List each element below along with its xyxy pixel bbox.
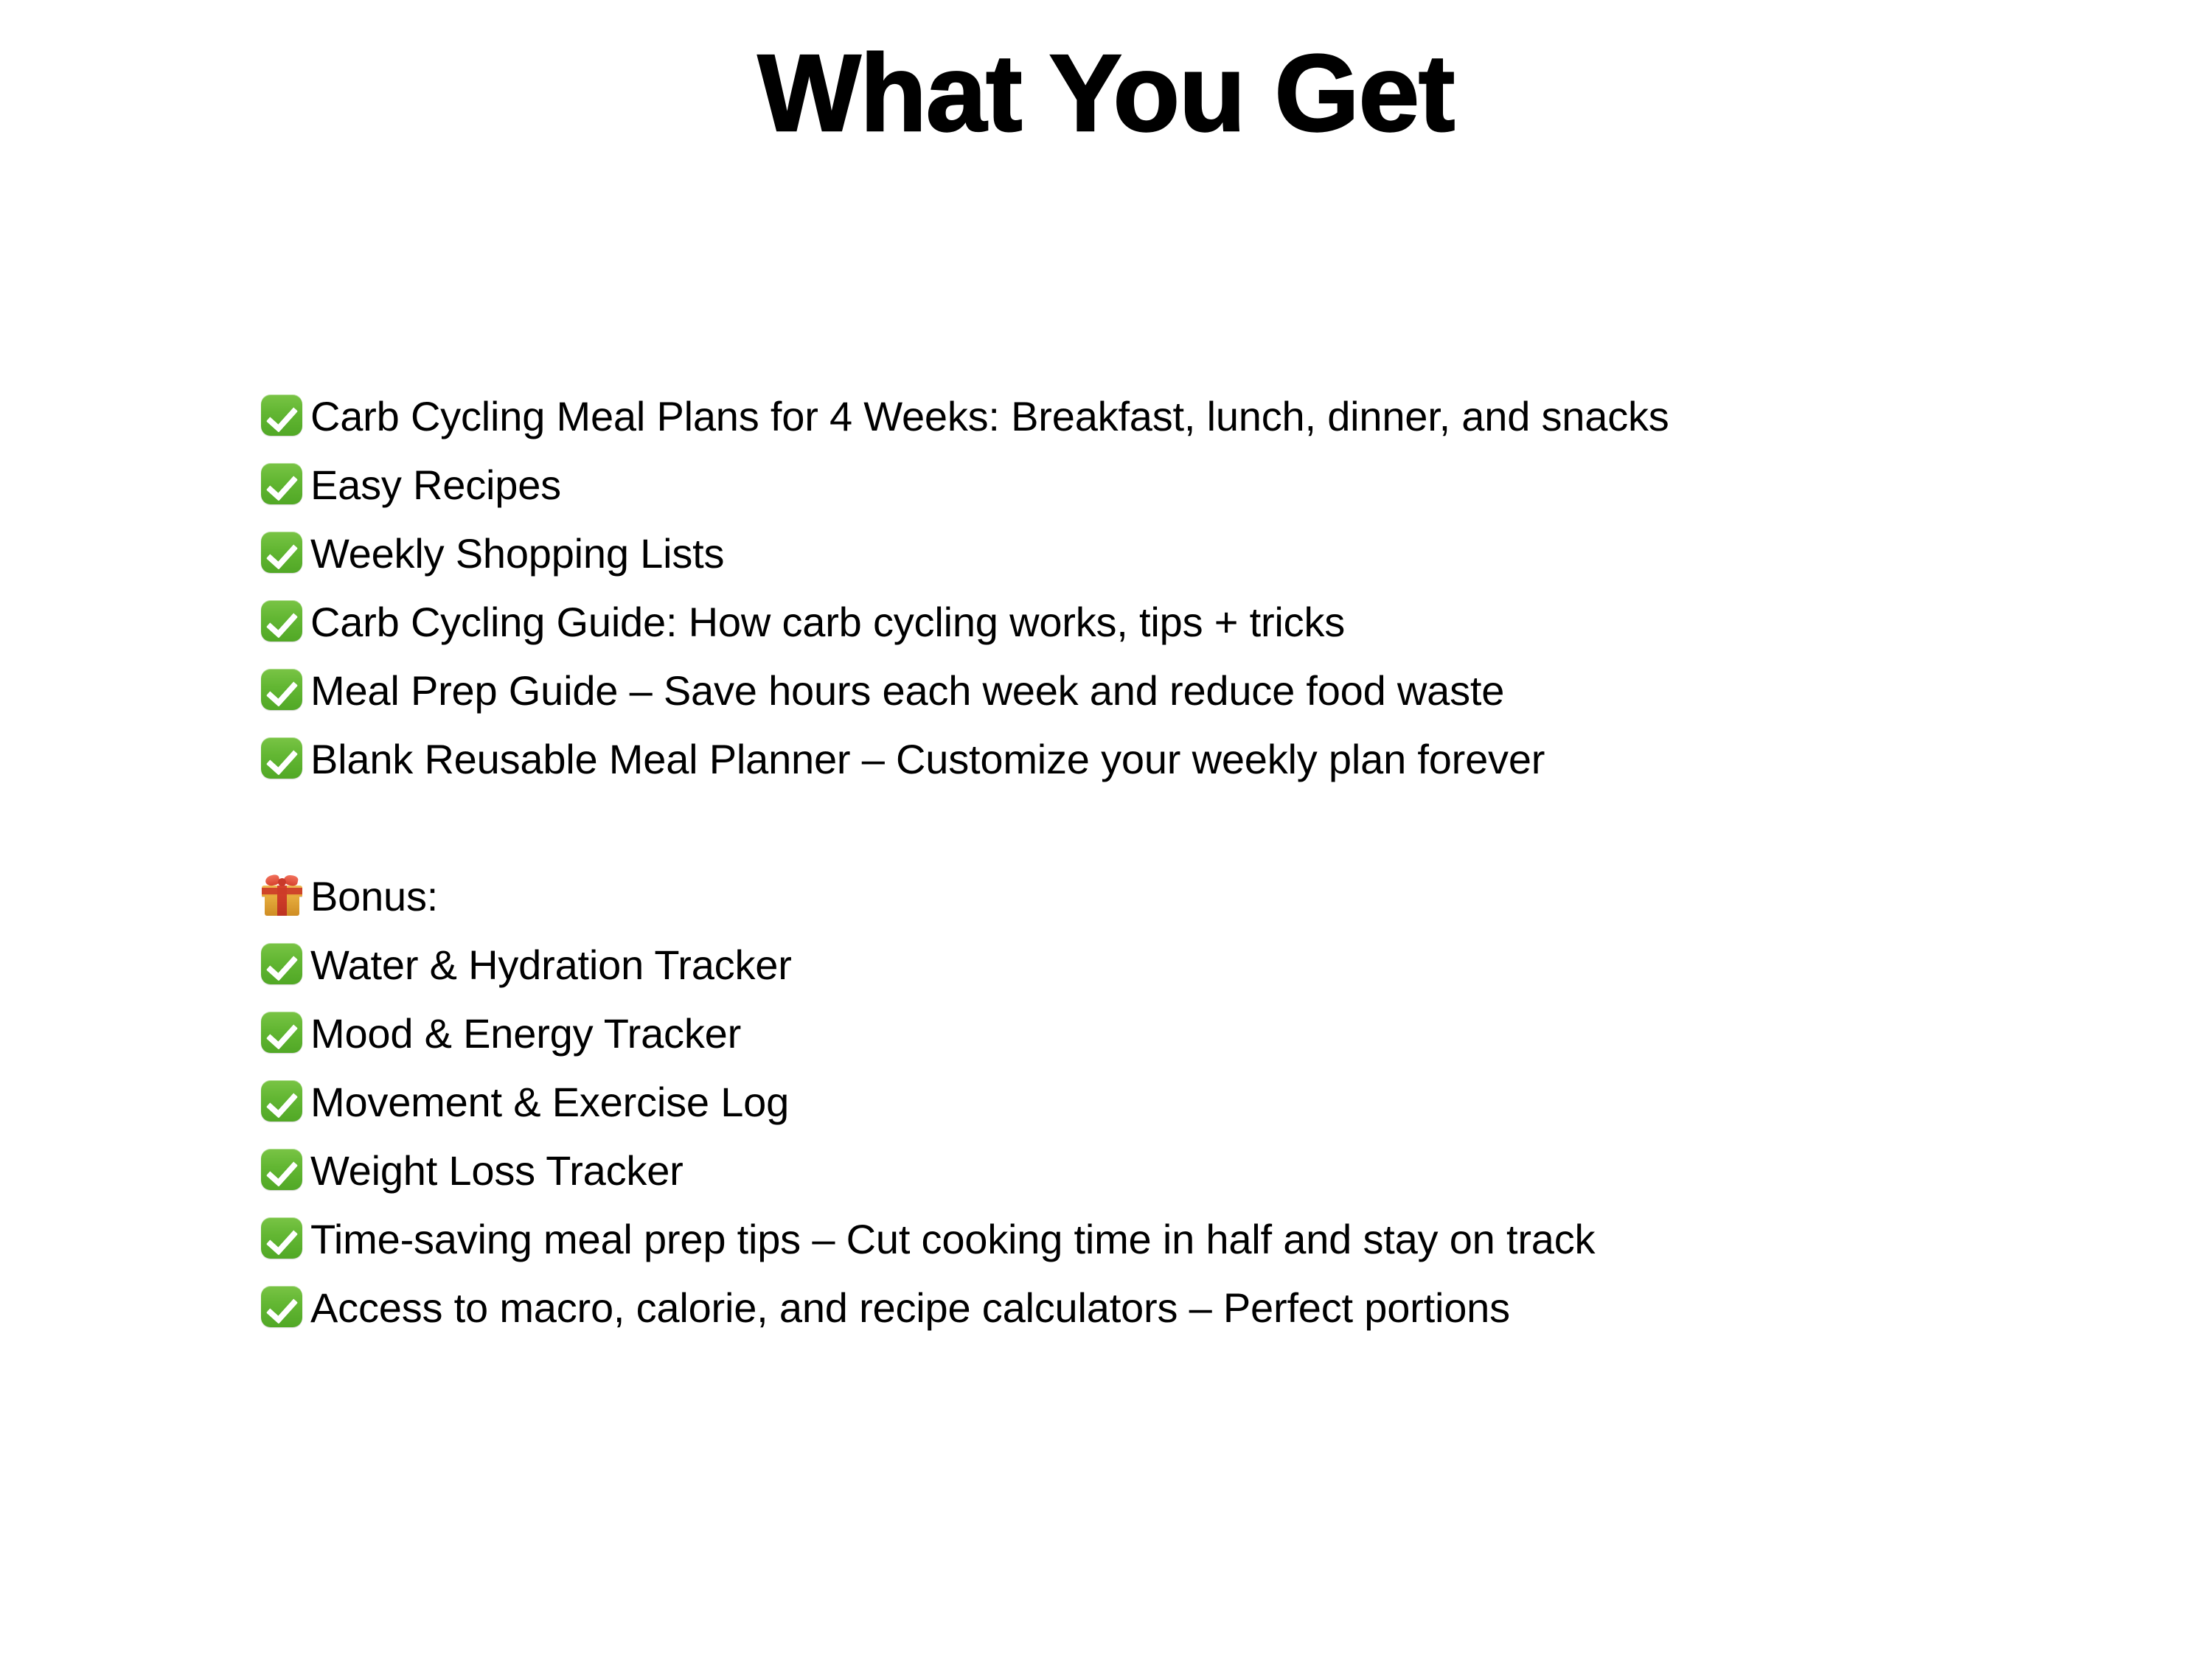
- list-item-label: Bonus:: [310, 862, 438, 931]
- list-item: Carb Cycling Meal Plans for 4 Weeks: Bre…: [260, 382, 2147, 451]
- benefits-list: Carb Cycling Meal Plans for 4 Weeks: Bre…: [260, 382, 2147, 1342]
- list-item: Meal Prep Guide – Save hours each week a…: [260, 656, 2147, 725]
- check-mark-icon: [260, 588, 304, 656]
- check-mark-icon: [260, 725, 304, 793]
- check-mark-glyph: [261, 600, 302, 641]
- check-mark-icon: [260, 1136, 304, 1205]
- check-mark-icon: [260, 656, 304, 725]
- list-item-label: Carb Cycling Guide: How carb cycling wor…: [310, 588, 1345, 656]
- list-item: Weight Loss Tracker: [260, 1136, 2147, 1205]
- check-mark-glyph: [261, 394, 302, 436]
- list-item: Access to macro, calorie, and recipe cal…: [260, 1273, 2147, 1342]
- check-mark-icon: [260, 519, 304, 588]
- list-item: Water & Hydration Tracker: [260, 931, 2147, 999]
- list-item: Time-saving meal prep tips – Cut cooking…: [260, 1205, 2147, 1273]
- list-item: Movement & Exercise Log: [260, 1068, 2147, 1136]
- check-mark-icon: [260, 451, 304, 519]
- check-mark-glyph: [261, 669, 302, 710]
- check-mark-glyph: [261, 1080, 302, 1121]
- gift-ribbon-h: [262, 888, 302, 894]
- list-item-label: Easy Recipes: [310, 451, 561, 519]
- list-item-label: Mood & Energy Tracker: [310, 999, 741, 1068]
- list-item: Easy Recipes: [260, 451, 2147, 519]
- list-item-label: Meal Prep Guide – Save hours each week a…: [310, 656, 1504, 725]
- list-item-label: Movement & Exercise Log: [310, 1068, 789, 1136]
- list-item: Weekly Shopping Lists: [260, 519, 2147, 588]
- check-mark-glyph: [261, 943, 302, 984]
- list-spacer: [260, 793, 2147, 862]
- check-mark-icon: [260, 999, 304, 1068]
- check-mark-glyph: [261, 1012, 302, 1053]
- check-mark-glyph: [261, 1286, 302, 1327]
- list-item: Carb Cycling Guide: How carb cycling wor…: [260, 588, 2147, 656]
- list-item-label: Weight Loss Tracker: [310, 1136, 684, 1205]
- list-item-label: Weekly Shopping Lists: [310, 519, 724, 588]
- gift-bow-knot: [278, 878, 286, 886]
- list-item-label: Blank Reusable Meal Planner – Customize …: [310, 725, 1545, 793]
- list-item: Blank Reusable Meal Planner – Customize …: [260, 725, 2147, 793]
- check-mark-glyph: [261, 463, 302, 504]
- list-item: Mood & Energy Tracker: [260, 999, 2147, 1068]
- gift-icon: [260, 862, 304, 931]
- check-mark-glyph: [261, 532, 302, 573]
- check-mark-icon: [260, 931, 304, 999]
- list-item: Bonus:: [260, 862, 2147, 931]
- gift-box-glyph: [261, 874, 303, 917]
- check-mark-icon: [260, 1068, 304, 1136]
- list-item-label: Water & Hydration Tracker: [310, 931, 792, 999]
- check-mark-glyph: [261, 737, 302, 779]
- check-mark-glyph: [261, 1149, 302, 1190]
- check-mark-icon: [260, 1205, 304, 1273]
- page-title: What You Get: [0, 38, 2212, 150]
- check-mark-icon: [260, 1273, 304, 1342]
- list-item-label: Carb Cycling Meal Plans for 4 Weeks: Bre…: [310, 382, 1669, 451]
- check-mark-glyph: [261, 1217, 302, 1259]
- list-item-label: Access to macro, calorie, and recipe cal…: [310, 1273, 1510, 1342]
- check-mark-icon: [260, 382, 304, 451]
- list-item-label: Time-saving meal prep tips – Cut cooking…: [310, 1205, 1595, 1273]
